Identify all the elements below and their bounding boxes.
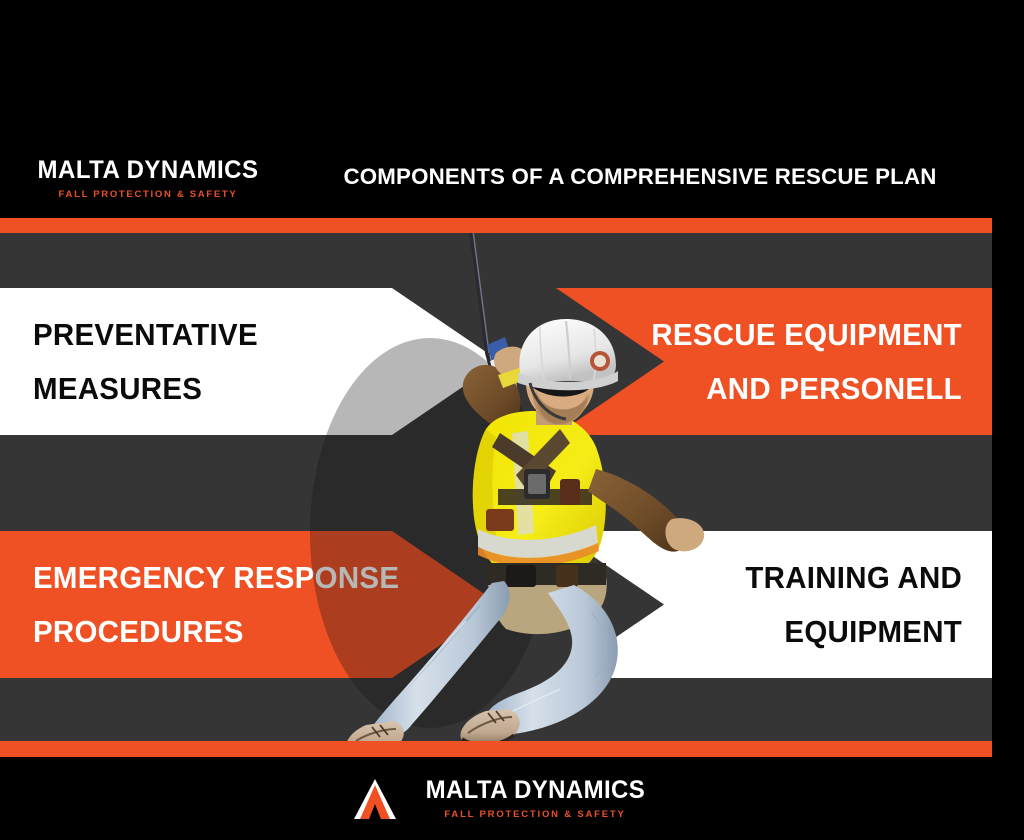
component-card-preventative-measures[interactable]: PREVENTATIVE MEASURES [0,288,500,435]
page-title: COMPONENTS OF A COMPREHENSIVE RESCUE PLA… [303,164,976,190]
slide-header: MALTA DYNAMICS FALL PROTECTION & SAFETY … [0,30,992,218]
component-card-training-and-equipment[interactable]: TRAINING AND EQUIPMENT [556,531,992,678]
chevron-peak-logo-icon [347,776,403,822]
footer-brand-logo: MALTA DYNAMICS FALL PROTECTION & SAFETY [421,778,650,820]
slide-body-panel: PREVENTATIVE MEASURES RESCUE EQUIPMENT A… [0,233,992,741]
brand-name: MALTA DYNAMICS [33,158,263,183]
slide-footer: MALTA DYNAMICS FALL PROTECTION & SAFETY [0,757,1024,840]
component-card-emergency-response-procedures[interactable]: EMERGENCY RESPONSE PROCEDURES [0,531,500,678]
header-brand-logo: MALTA DYNAMICS FALL PROTECTION & SAFETY [28,158,268,200]
footer-brand-name: MALTA DYNAMICS [425,778,645,803]
divider-bar-bottom [0,741,992,757]
brand-tagline: FALL PROTECTION & SAFETY [28,189,268,200]
footer-brand-tagline: FALL PROTECTION & SAFETY [421,809,650,820]
component-label: TRAINING AND EQUIPMENT [745,551,962,659]
component-label: PREVENTATIVE MEASURES [33,308,258,416]
component-card-rescue-equipment-and-personell[interactable]: RESCUE EQUIPMENT AND PERSONELL [556,288,992,435]
component-label: EMERGENCY RESPONSE PROCEDURES [33,551,399,659]
rescue-plan-infographic-slide: MALTA DYNAMICS FALL PROTECTION & SAFETY … [0,0,1024,840]
component-label: RESCUE EQUIPMENT AND PERSONELL [651,308,962,416]
divider-bar-top [0,218,992,233]
